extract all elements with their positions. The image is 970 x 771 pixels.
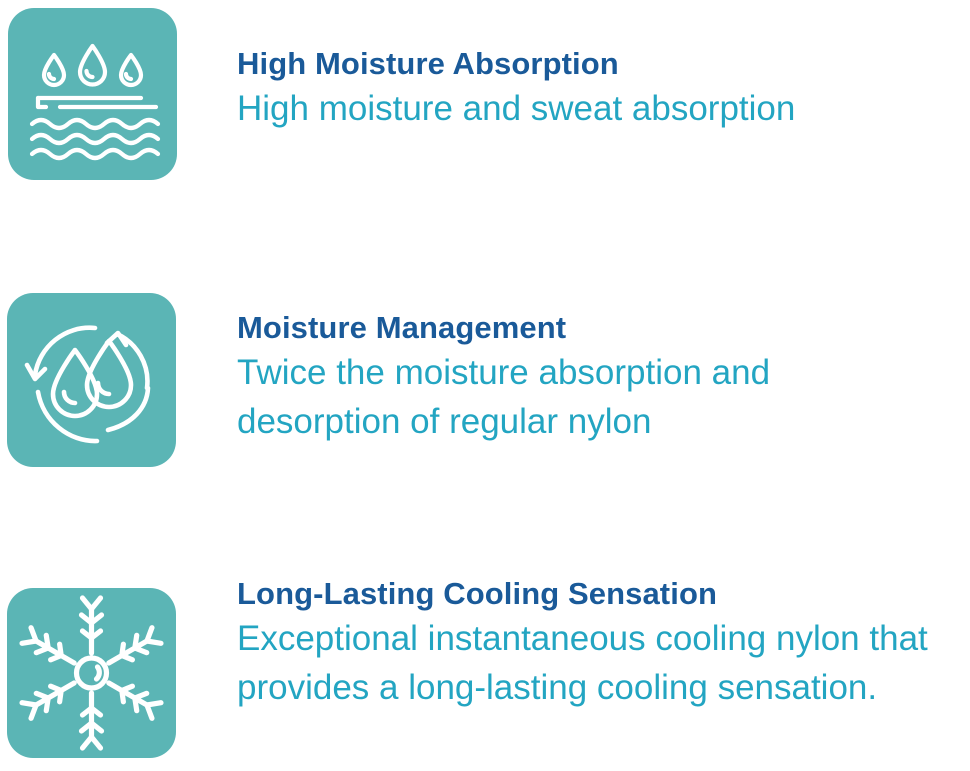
feature-list-page: High Moisture Absorption High moisture a… [0, 0, 970, 771]
feature-text-block: Long-Lasting Cooling Sensation Exception… [237, 574, 970, 712]
feature-title: High Moisture Absorption [237, 44, 970, 84]
feature-text-block: High Moisture Absorption High moisture a… [237, 44, 970, 133]
feature-text-block: Moisture Management Twice the moisture a… [237, 308, 970, 446]
feature-row: Moisture Management Twice the moisture a… [0, 285, 970, 570]
feature-row: High Moisture Absorption High moisture a… [0, 0, 970, 285]
feature-description: Twice the moisture absorption and desorp… [237, 348, 917, 446]
water-drops-absorption-icon [8, 8, 177, 180]
moisture-cycle-droplets-icon [7, 293, 176, 467]
feature-description: High moisture and sweat absorption [237, 84, 970, 133]
feature-description: Exceptional instantaneous cooling nylon … [237, 614, 970, 712]
snowflake-icon [7, 588, 176, 758]
feature-row: Long-Lasting Cooling Sensation Exception… [0, 570, 970, 771]
feature-title: Moisture Management [237, 308, 970, 348]
feature-title: Long-Lasting Cooling Sensation [237, 574, 970, 614]
